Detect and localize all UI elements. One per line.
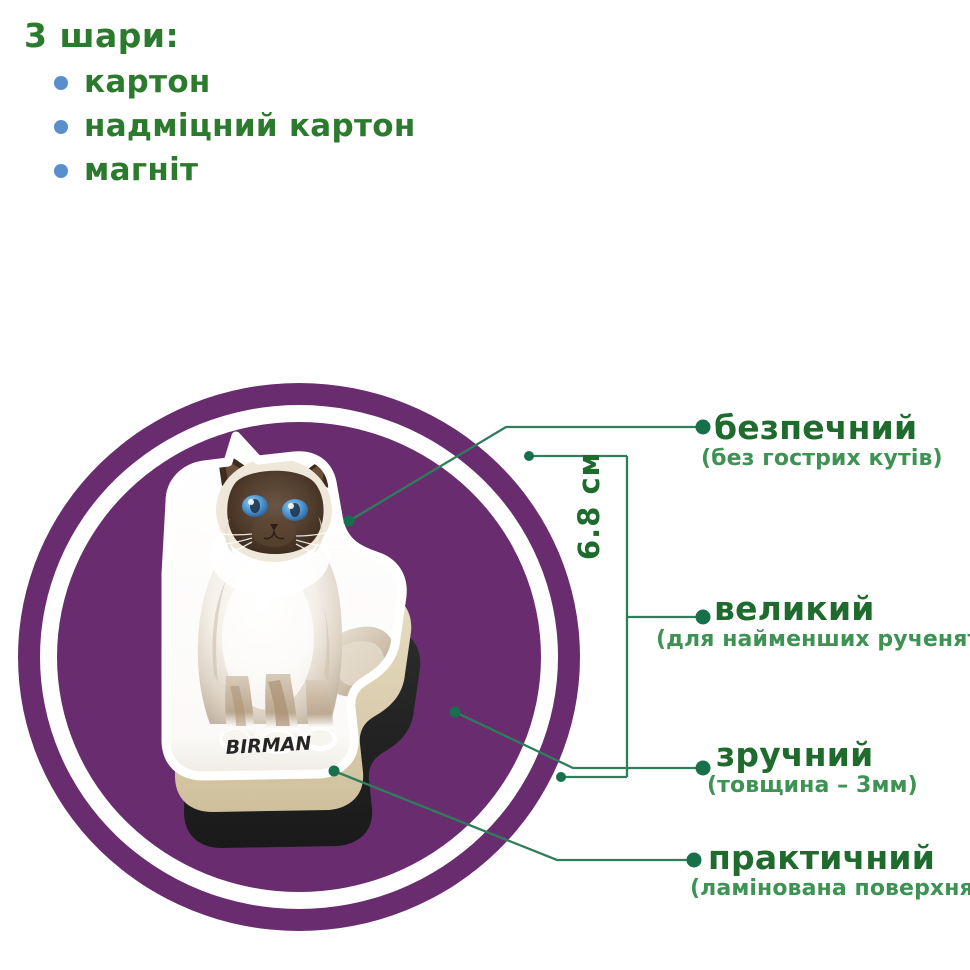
callout-title: великий — [714, 592, 970, 626]
callout-practical: практичний (ламінована поверхня) — [708, 841, 970, 900]
callout-handy: зручний (товщина – 3мм) — [716, 738, 918, 797]
callout-safe: безпечний (без гострих кутів) — [714, 411, 943, 470]
dot-bullet-icon — [54, 76, 68, 90]
dot-marker-icon-big — [696, 610, 711, 625]
callout-subtitle: (товщина – 3мм) — [707, 774, 918, 797]
callout-subtitle: (для найменших рученят) — [656, 628, 970, 651]
dimension-label: 6.8 см — [572, 452, 606, 560]
callout-big: великий (для найменших рученят) — [714, 592, 970, 651]
magnet-card-stack: BIRMAN — [118, 424, 518, 864]
callout-title: безпечний — [714, 411, 943, 445]
callout-subtitle: (ламінована поверхня) — [690, 877, 970, 900]
layer-item-label: магніт — [84, 152, 198, 190]
layer-item-label: картон — [84, 64, 211, 102]
dot-marker-icon-safe — [696, 420, 711, 435]
dot-bullet-icon — [54, 164, 68, 178]
list-item: картон — [22, 64, 562, 102]
list-item: надміцний картон — [22, 108, 562, 146]
callout-title: зручний — [716, 738, 918, 772]
callout-subtitle: (без гострих кутів) — [701, 447, 943, 470]
layers-list-block: 3 шари: картон надміцний картон магніт — [22, 18, 562, 196]
dot-bullet-icon — [54, 120, 68, 134]
breed-label: BIRMAN — [225, 733, 312, 759]
layers-title: 3 шари: — [24, 18, 562, 54]
list-item: магніт — [22, 152, 562, 190]
callout-title: практичний — [708, 841, 970, 875]
layer-item-label: надміцний картон — [84, 108, 416, 146]
dot-marker-icon-practical — [687, 853, 702, 868]
